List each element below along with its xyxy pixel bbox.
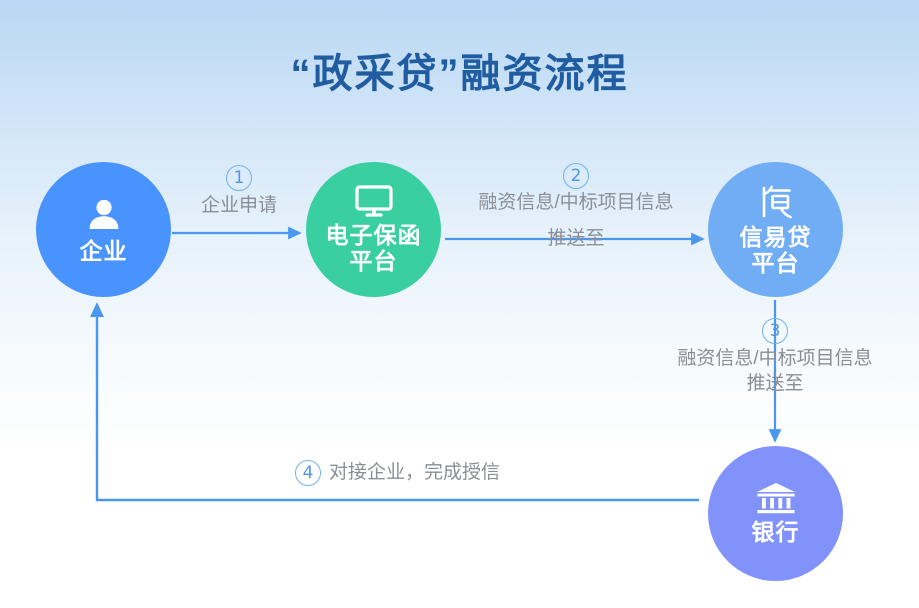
node-guarantee-label: 电子保函 平台 (326, 223, 422, 275)
edge-2-text-line2: 推送至 (547, 226, 604, 251)
node-credit[interactable]: 信易贷 平台 (708, 162, 843, 297)
node-bank-label: 银行 (752, 520, 800, 546)
monitor-icon (354, 185, 394, 219)
edge-1-text: 企业申请 (201, 193, 277, 218)
edge-label-3: 3 融资信息/中标项目信息 推送至 (632, 318, 918, 396)
edge-4-text: 对接企业，完成授信 (329, 460, 500, 485)
page-title: “政采贷”融资流程 (0, 52, 919, 96)
edge-label-4: 4 对接企业，完成授信 (295, 460, 500, 486)
edge-3-text-line2: 推送至 (746, 371, 803, 396)
edge-3-text-line1: 融资信息/中标项目信息 (677, 346, 872, 371)
edge-label-1: 1 企业申请 (171, 165, 307, 240)
edge-2-text-line1: 融资信息/中标项目信息 (478, 190, 673, 215)
node-enterprise[interactable]: 企业 (36, 162, 171, 297)
credit-logo-icon (755, 183, 797, 221)
bank-building-icon (755, 482, 797, 516)
node-bank[interactable]: 银行 (708, 446, 843, 581)
flowchart-canvas: “政采贷”融资流程 企业 (0, 0, 919, 608)
person-icon (84, 195, 124, 235)
node-guarantee[interactable]: 电子保函 平台 (306, 162, 441, 297)
step-number-4: 4 (295, 460, 321, 486)
step-number-3: 3 (762, 318, 788, 344)
node-credit-label: 信易贷 平台 (740, 225, 812, 277)
node-enterprise-label: 企业 (80, 239, 128, 265)
edge-label-2: 2 融资信息/中标项目信息 推送至 (443, 163, 709, 273)
step-number-1: 1 (226, 165, 252, 191)
step-number-2: 2 (563, 163, 589, 189)
